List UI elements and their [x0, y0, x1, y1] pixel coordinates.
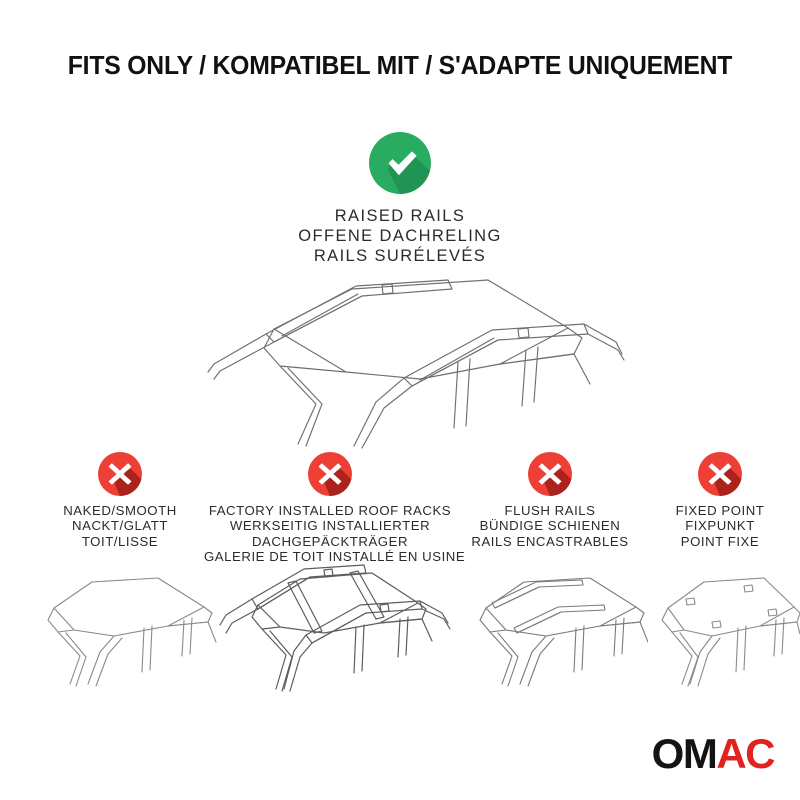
incompatible-item-factory-roof-rack: FACTORY INSTALLED ROOF RACKS WERKSEITIG …: [204, 452, 456, 565]
check-circle-icon: [369, 132, 431, 194]
incompatible-label-line-1: NAKED/SMOOTH: [18, 503, 222, 518]
incompatible-label-line-1: FIXED POINT: [640, 503, 800, 518]
incompatible-label-line-2: WERKSEITIG INSTALLIERTER: [204, 518, 456, 533]
incompatible-label-stack: NAKED/SMOOTH NACKT/GLATT TOIT/LISSE: [18, 503, 222, 549]
cross-circle-icon: [98, 452, 142, 496]
compatible-label-stack: RAISED RAILS OFFENE DACHRELING RAILS SUR…: [0, 206, 800, 266]
omac-logo-dark-part: OM: [652, 730, 717, 777]
incompatible-section: NAKED/SMOOTH NACKT/GLATT TOIT/LISSE: [0, 452, 800, 702]
cross-circle-icon: [528, 452, 572, 496]
car-roof-factory-roof-rack-illustration: [204, 549, 456, 694]
compatible-label-line-3: RAILS SURÉLEVÉS: [0, 246, 800, 266]
car-roof-fixed-point-illustration: [640, 560, 800, 690]
incompatible-item-flush-rails: FLUSH RAILS BÜNDIGE SCHIENEN RAILS ENCAS…: [452, 452, 648, 549]
compatible-label-line-1: RAISED RAILS: [0, 206, 800, 226]
incompatible-item-fixed-point: FIXED POINT FIXPUNKT POINT FIXE: [640, 452, 800, 549]
car-roof-with-raised-rails-illustration: [170, 276, 630, 451]
incompatible-label-line-3: POINT FIXE: [640, 534, 800, 549]
incompatible-label-line-3: RAILS ENCASTRABLES: [452, 534, 648, 549]
incompatible-label-line-2: BÜNDIGE SCHIENEN: [452, 518, 648, 533]
car-roof-flush-rails-illustration: [452, 560, 648, 690]
compatible-label-line-2: OFFENE DACHRELING: [0, 226, 800, 246]
cross-circle-icon: [698, 452, 742, 496]
incompatible-label-line-2: FIXPUNKT: [640, 518, 800, 533]
incompatible-label-line-3: DACHGEPÄCKTRÄGER: [204, 534, 456, 549]
incompatible-label-line-2: NACKT/GLATT: [18, 518, 222, 533]
page-title: FITS ONLY / KOMPATIBEL MIT / S'ADAPTE UN…: [12, 52, 788, 81]
compatible-section: RAISED RAILS OFFENE DACHRELING RAILS SUR…: [0, 132, 800, 266]
incompatible-item-naked-smooth: NAKED/SMOOTH NACKT/GLATT TOIT/LISSE: [18, 452, 222, 549]
incompatible-label-line-1: FLUSH RAILS: [452, 503, 648, 518]
omac-logo: OMAC: [652, 733, 774, 775]
incompatible-label-line-1: FACTORY INSTALLED ROOF RACKS: [204, 503, 456, 518]
incompatible-label-stack: FIXED POINT FIXPUNKT POINT FIXE: [640, 503, 800, 549]
incompatible-label-stack: FLUSH RAILS BÜNDIGE SCHIENEN RAILS ENCAS…: [452, 503, 648, 549]
omac-logo-accent-part: AC: [716, 730, 774, 777]
car-roof-naked-smooth-illustration: [18, 560, 222, 690]
incompatible-label-line-3: TOIT/LISSE: [18, 534, 222, 549]
cross-circle-icon: [308, 452, 352, 496]
